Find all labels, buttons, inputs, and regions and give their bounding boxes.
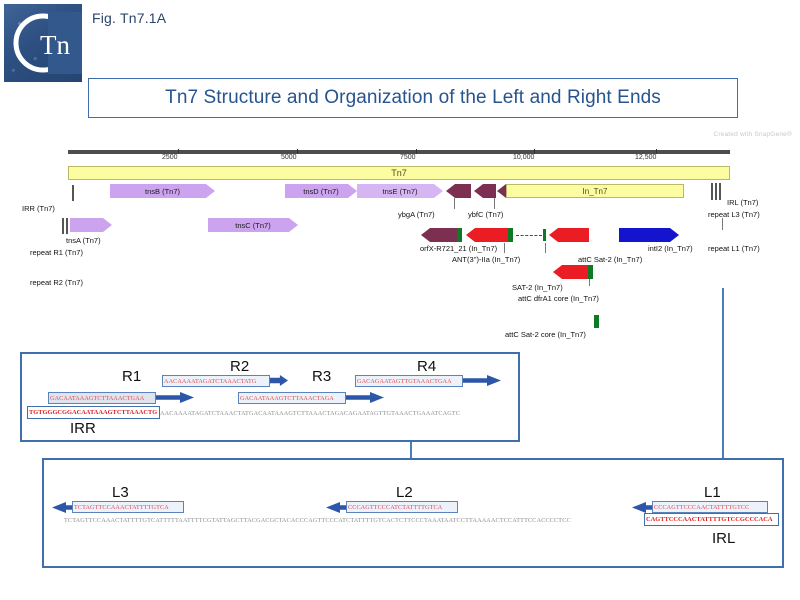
leader-ybfC [494, 198, 495, 209]
irl-baseline-sequence: TCTAGTTCCAAACTATTTTGTCATTTTTAATTTTCGTATT… [64, 517, 571, 524]
gene-ybfC-a[interactable] [474, 184, 496, 198]
attc-core-marker-4 [588, 265, 593, 279]
repeat-sequence-R3[interactable]: GACAATAAAGTCTTAAACTAGA [238, 392, 346, 404]
gene-attC-Sat-2[interactable] [549, 228, 589, 242]
ctn-logo: Tn [4, 4, 82, 82]
irr-end-label: IRR [70, 420, 96, 437]
feature-label-ybgA: ybgA (Tn7) [398, 210, 435, 219]
ruler-tick-5: 12,500 [635, 154, 656, 161]
feature-label-repeat-l1: repeat L1 (Tn7) [708, 244, 760, 253]
repeat-arrow-R3 [346, 392, 384, 403]
ruler-tick-4: 10,000 [513, 154, 534, 161]
repeat-label-R3: R3 [312, 368, 331, 385]
irr-detail-panel: R1 R2 R3 R4 AACAAAATAGATCTAAACTATG GACAG… [20, 352, 520, 442]
gene-tnsC[interactable]: tnsC (Tn7) [208, 218, 298, 232]
gene-tnsA[interactable] [70, 218, 112, 232]
snapgene-attribution: Created with SnapGene® [713, 131, 792, 138]
svg-text:Tn: Tn [40, 30, 70, 60]
repeat-sequence-L2[interactable]: CCCAGTTCCCATCTATTTTGTCA [346, 501, 458, 513]
irl-hatch-2 [715, 183, 717, 200]
feature-label-attc-sat2-core: attC Sat-2 core (In_Tn7) [505, 330, 586, 339]
cassette-dash-link [516, 235, 542, 236]
repeat-sequence-L1[interactable]: CCCAGTTCCCAACTATTTTGTCC [652, 501, 768, 513]
repeat-label-R2: R2 [230, 358, 249, 375]
leader-attc-sat2 [545, 243, 546, 253]
attc-sat2-core-marker [594, 315, 599, 328]
irl-detail-panel: L3 L2 L1 TCTAGTTCCAAACTATTTTGTCA CCCAGTT… [42, 458, 784, 568]
gene-map: 2500 5000 7500 10,000 12,500 Tn7 IRR (Tn… [0, 140, 800, 350]
repeat-r2-tickmark [62, 218, 64, 234]
gene-intI2[interactable] [619, 228, 679, 242]
ruler-tick-2: 5000 [281, 154, 297, 161]
repeat-sequence-R1[interactable]: GACAATAAAGTCTTAAACTGAA [48, 392, 156, 404]
feature-label-repeat-l3: repeat L3 (Tn7) [708, 210, 760, 219]
gene-tnsD[interactable]: tnsD (Tn7) [285, 184, 357, 198]
irl-highlight-sequence[interactable]: CAGTTCCCAACTATTTTGTCCGCCCACA [644, 513, 779, 526]
page-title: Tn7 Structure and Organization of the Le… [88, 78, 738, 118]
repeat-arrow-R4 [463, 375, 501, 386]
feature-label-attc-sat2: attC Sat-2 (In_Tn7) [578, 255, 642, 264]
feature-label-irl: IRL (Tn7) [727, 198, 758, 207]
feature-label-attc-dfrA1-core: attC dfrA1 core (In_Tn7) [518, 294, 599, 303]
connector-irl-right [722, 288, 724, 460]
leader-repeat-l1 [722, 218, 723, 230]
figure-label: Fig. Tn7.1A [92, 10, 166, 26]
ruler-tick-3: 7500 [400, 154, 416, 161]
repeat-arrow-R1 [156, 392, 194, 403]
repeat-label-L3: L3 [112, 484, 129, 501]
integron-label: In_Tn7 [583, 187, 608, 196]
tn7-backbone: Tn7 [68, 166, 730, 180]
irr-highlight-sequence[interactable]: TGTGGGCGGACAATAAAGTCTTAAACTG [27, 406, 160, 419]
repeat-label-R1: R1 [122, 368, 141, 385]
irl-hatch-3 [719, 183, 721, 200]
feature-label-repeat-r1: repeat R1 (Tn7) [30, 248, 83, 257]
page-title-text: Tn7 Structure and Organization of the Le… [165, 87, 661, 109]
irr-tickmark [72, 185, 74, 201]
feature-label-ybfC: ybfC (Tn7) [468, 210, 503, 219]
integron-in-tn7: In_Tn7 [506, 184, 684, 198]
gene-orfX-R721-21[interactable] [421, 228, 461, 242]
repeat-r1-tickmark [66, 218, 68, 234]
repeat-label-R4: R4 [417, 358, 436, 375]
irl-hatch-1 [711, 183, 713, 200]
feature-label-orfX: orfX-R721_21 (In_Tn7) [420, 244, 497, 253]
gene-tnsE[interactable]: tnsE (Tn7) [357, 184, 443, 198]
attc-core-marker-1 [457, 228, 462, 242]
feature-label-tnsA: tnsA (Tn7) [66, 236, 101, 245]
attc-core-marker-3 [543, 229, 546, 241]
leader-ant3 [504, 243, 505, 253]
feature-label-ant3: ANT(3'')-IIa (In_Tn7) [452, 255, 520, 264]
repeat-arrow-R2 [270, 375, 288, 386]
gene-tnsB[interactable]: tnsB (Tn7) [110, 184, 215, 198]
leader-ybgA [454, 198, 455, 209]
repeat-label-L1: L1 [704, 484, 721, 501]
connector-irl-left [410, 440, 412, 460]
feature-label-irr: IRR (Tn7) [22, 204, 55, 213]
repeat-label-L2: L2 [396, 484, 413, 501]
attc-core-marker-2 [508, 228, 513, 242]
repeat-sequence-L3[interactable]: TCTAGTTCCAAACTATTTTGTCA [72, 501, 184, 513]
gene-ybgA[interactable] [446, 184, 471, 198]
ruler-tick-1: 2500 [162, 154, 178, 161]
irr-baseline-sequence: AACAAAATAGATCTAAACTATGACAATAAAGTCTTAAACT… [160, 410, 460, 417]
gene-SAT-2[interactable] [553, 265, 591, 279]
tn7-backbone-label: Tn7 [391, 168, 407, 178]
feature-label-intI2: intI2 (In_Tn7) [648, 244, 693, 253]
repeat-sequence-R2[interactable]: AACAAAATAGATCTAAACTATG [162, 375, 270, 387]
leader-sat2 [589, 279, 590, 286]
feature-label-sat2: SAT-2 (In_Tn7) [512, 283, 563, 292]
repeat-sequence-R4[interactable]: GACAGAATAGTTGTAAACTGAA [355, 375, 463, 387]
feature-label-repeat-r2: repeat R2 (Tn7) [30, 278, 83, 287]
gene-ANT3-IIa[interactable] [466, 228, 512, 242]
irl-end-label: IRL [712, 530, 735, 547]
